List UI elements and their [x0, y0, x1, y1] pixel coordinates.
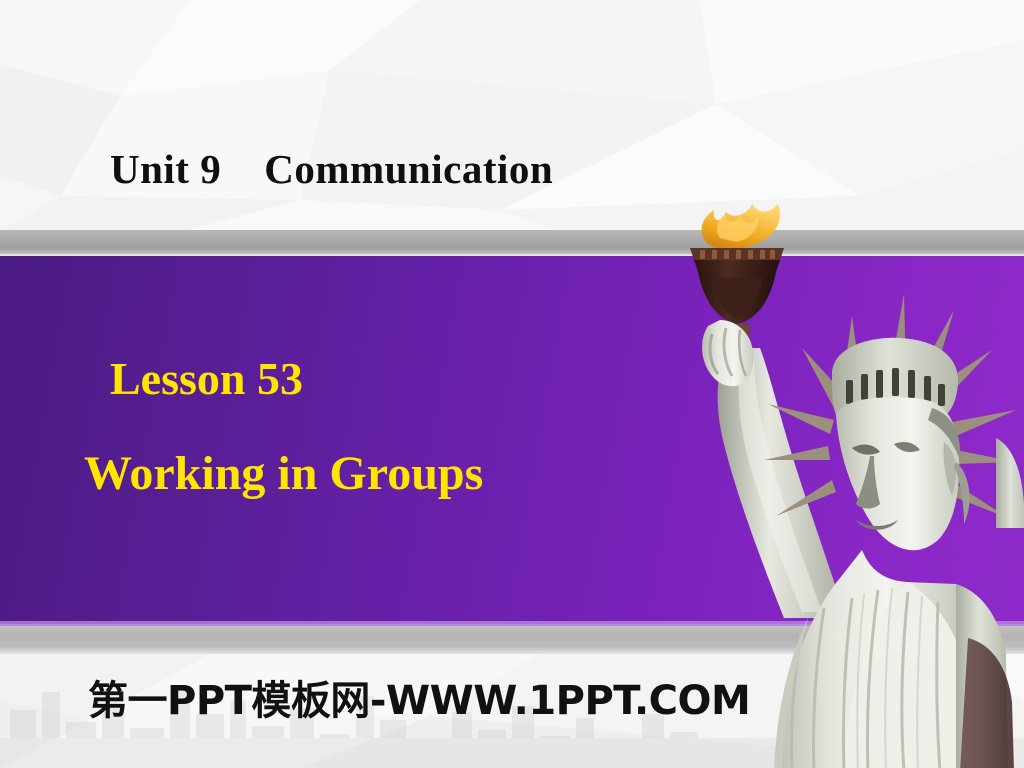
lesson-number: Lesson 53 — [110, 352, 303, 405]
page-title: Unit 9 Communication — [110, 145, 553, 193]
lesson-title: Working in Groups — [84, 446, 483, 501]
presentation-slide: Unit 9 Communication Lesson 53 Working i… — [0, 0, 1024, 768]
torch-flame-icon — [701, 204, 780, 249]
head — [832, 338, 970, 550]
tablet-arm — [996, 438, 1024, 528]
watermark-text: 第一PPT模板网-WWW.1PPT.COM — [88, 668, 750, 726]
